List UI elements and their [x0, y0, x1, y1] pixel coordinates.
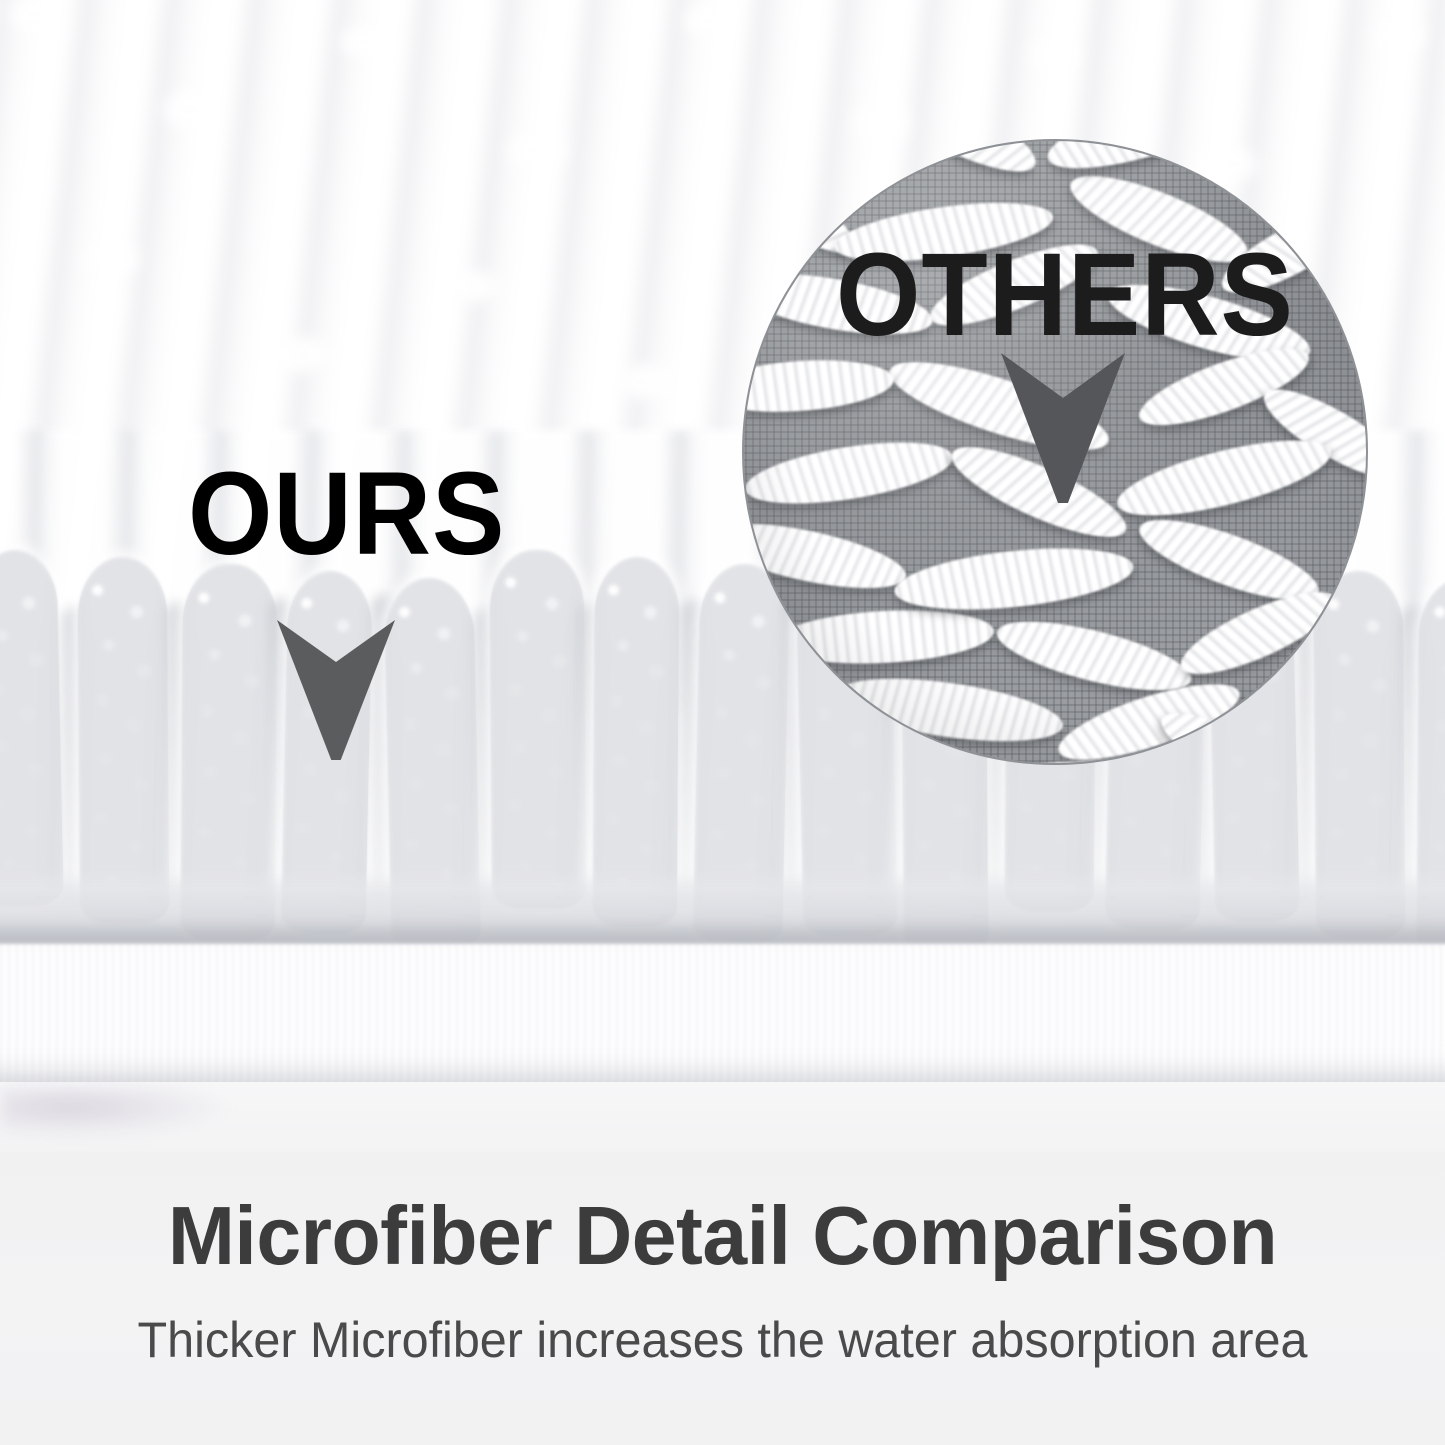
- caption-subtitle: Thicker Microfiber increases the water a…: [22, 1277, 1424, 1365]
- chenille-tuft: [593, 557, 680, 928]
- product-photo: OURS OTHERS: [0, 0, 1445, 1152]
- competitor-fiber-strand: [831, 667, 1066, 752]
- chenille-tuft: [490, 550, 587, 910]
- others-label: OTHERS: [836, 236, 1294, 354]
- infographic-canvas: OURS OTHERS Microfiber Detail Comparison…: [0, 0, 1445, 1445]
- chenille-tuft: [0, 549, 64, 907]
- surface-color-tint: [0, 1086, 230, 1138]
- competitor-fiber-strand: [892, 539, 1137, 620]
- competitor-fiber-strand: [742, 723, 917, 765]
- caption-block: Microfiber Detail Comparison Thicker Mic…: [0, 1152, 1445, 1445]
- caption-title: Microfiber Detail Comparison: [22, 1152, 1424, 1277]
- competitor-fiber-strand: [1191, 139, 1368, 197]
- chenille-tuft: [78, 557, 170, 925]
- competitor-fiber-strand: [1111, 425, 1338, 531]
- ours-label: OURS: [188, 455, 505, 573]
- competitor-fiber-strand: [742, 354, 896, 417]
- competitor-fiber-strand: [742, 431, 957, 515]
- competitor-fiber-strand: [742, 139, 936, 172]
- competitor-fiber-strand: [773, 605, 995, 668]
- competitor-fiber-strand: [742, 511, 911, 601]
